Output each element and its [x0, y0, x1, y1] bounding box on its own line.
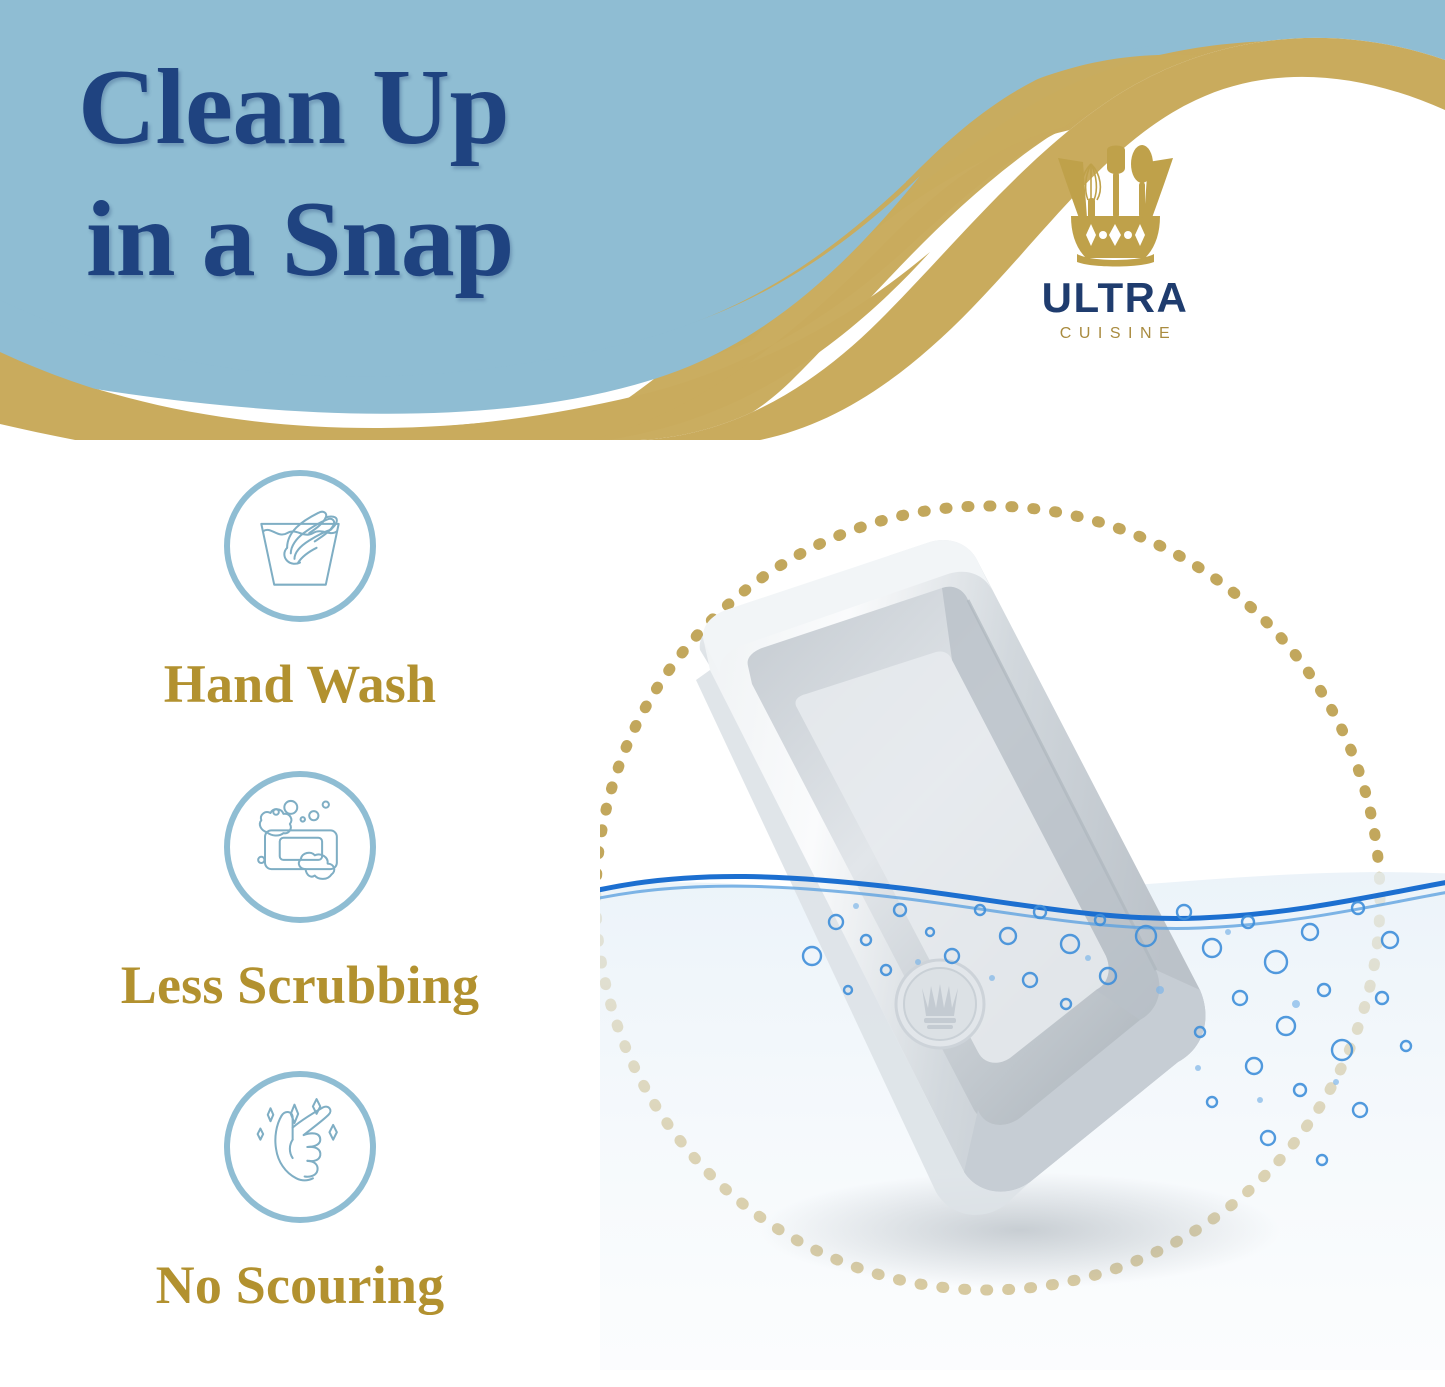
feature-item-hand-wash: Hand Wash: [0, 470, 600, 713]
feature-list: Hand Wash: [0, 470, 600, 1314]
feature-item-less-scrubbing: Less Scrubbing: [0, 771, 600, 1014]
feature-item-no-scouring: No Scouring: [0, 1071, 600, 1314]
logo-brand-primary: ULTRA: [1010, 277, 1220, 319]
soap-bar-suds-icon: [224, 771, 376, 923]
crown-of-utensils-icon: [1033, 138, 1198, 273]
product-image-loaf-pan: [600, 470, 1445, 1370]
hand-wash-basin-icon: [224, 470, 376, 622]
ultra-cuisine-crown-stamp: [896, 960, 984, 1048]
infographic-canvas: Clean Up in a Snap: [0, 0, 1445, 1387]
feature-label-hand-wash: Hand Wash: [0, 656, 600, 713]
feature-label-no-scouring: No Scouring: [0, 1257, 600, 1314]
headline-line-2: in a Snap: [86, 174, 718, 306]
feature-label-less-scrubbing: Less Scrubbing: [0, 957, 600, 1014]
brand-logo: ULTRA CUISINE: [1010, 138, 1220, 342]
headline-line-1: Clean Up: [78, 42, 718, 174]
snapping-fingers-sparkle-icon: [224, 1071, 376, 1223]
headline: Clean Up in a Snap: [78, 42, 718, 306]
logo-brand-secondary: CUISINE: [1010, 326, 1220, 342]
product-showcase: [600, 470, 1445, 1370]
